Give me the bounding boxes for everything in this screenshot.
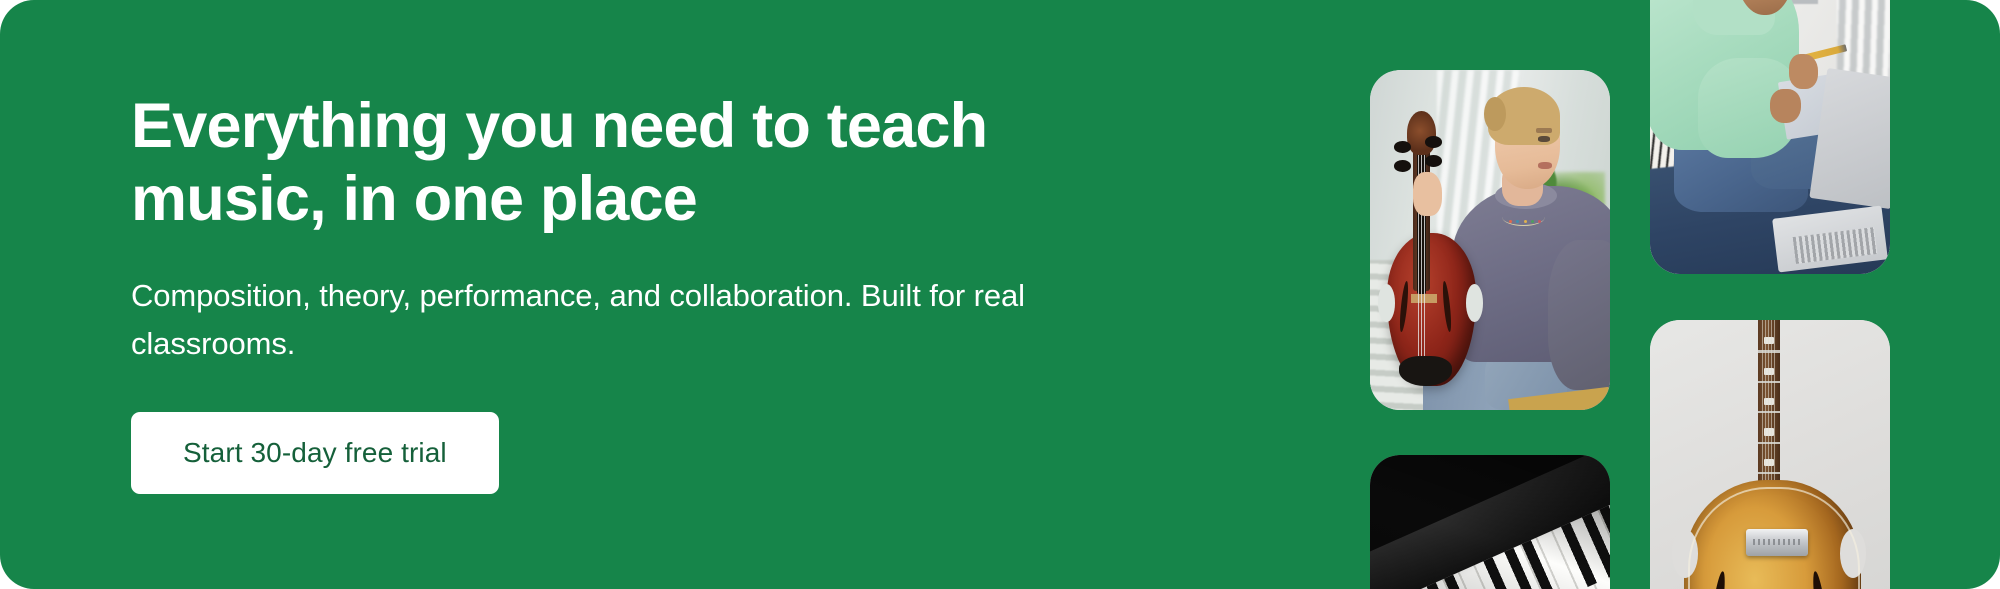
laptop-student-photo xyxy=(1650,0,1890,274)
beaded-necklace xyxy=(1502,208,1545,226)
student-hand xyxy=(1413,172,1442,216)
student-hair-bun xyxy=(1484,97,1506,131)
student-hand-lower xyxy=(1770,89,1801,124)
page-title: Everything you need to teach music, in o… xyxy=(131,90,1091,236)
violin-scene xyxy=(1370,70,1610,410)
hero-content: Everything you need to teach music, in o… xyxy=(131,0,1231,589)
violin-chinrest xyxy=(1399,356,1452,387)
violin-waist-right xyxy=(1466,284,1483,321)
violin-waist-left xyxy=(1378,284,1395,321)
laptop-scene xyxy=(1650,0,1890,274)
violin-tuning-peg xyxy=(1394,160,1411,172)
guitar-scene xyxy=(1650,320,1890,589)
violin-tuning-peg xyxy=(1425,136,1442,148)
violin-tuning-peg xyxy=(1425,155,1442,167)
necklace-bead xyxy=(1524,220,1527,223)
student-sleeve xyxy=(1548,240,1610,390)
student-eyebrow xyxy=(1536,128,1553,133)
keyboard-scene xyxy=(1370,455,1610,589)
student-lips xyxy=(1538,162,1552,169)
guitar-photo xyxy=(1650,320,1890,589)
start-free-trial-button[interactable]: Start 30-day free trial xyxy=(131,412,499,494)
violin-student-photo xyxy=(1370,70,1610,410)
violin-scroll xyxy=(1407,111,1436,155)
violin-tuning-peg xyxy=(1394,141,1411,153)
hero-banner: Everything you need to teach music, in o… xyxy=(0,0,2000,589)
student-hand-upper xyxy=(1789,54,1818,89)
hero-image-gallery xyxy=(1320,0,2000,589)
keyboard-shadow-overlay xyxy=(1370,455,1610,589)
keyboard-photo xyxy=(1370,455,1610,589)
hero-subheading: Composition, theory, performance, and co… xyxy=(131,272,1141,368)
pickup-pole-pieces xyxy=(1753,539,1801,545)
necklace-bead xyxy=(1531,220,1534,223)
student-eye xyxy=(1538,136,1550,141)
necklace-bead xyxy=(1538,220,1541,223)
